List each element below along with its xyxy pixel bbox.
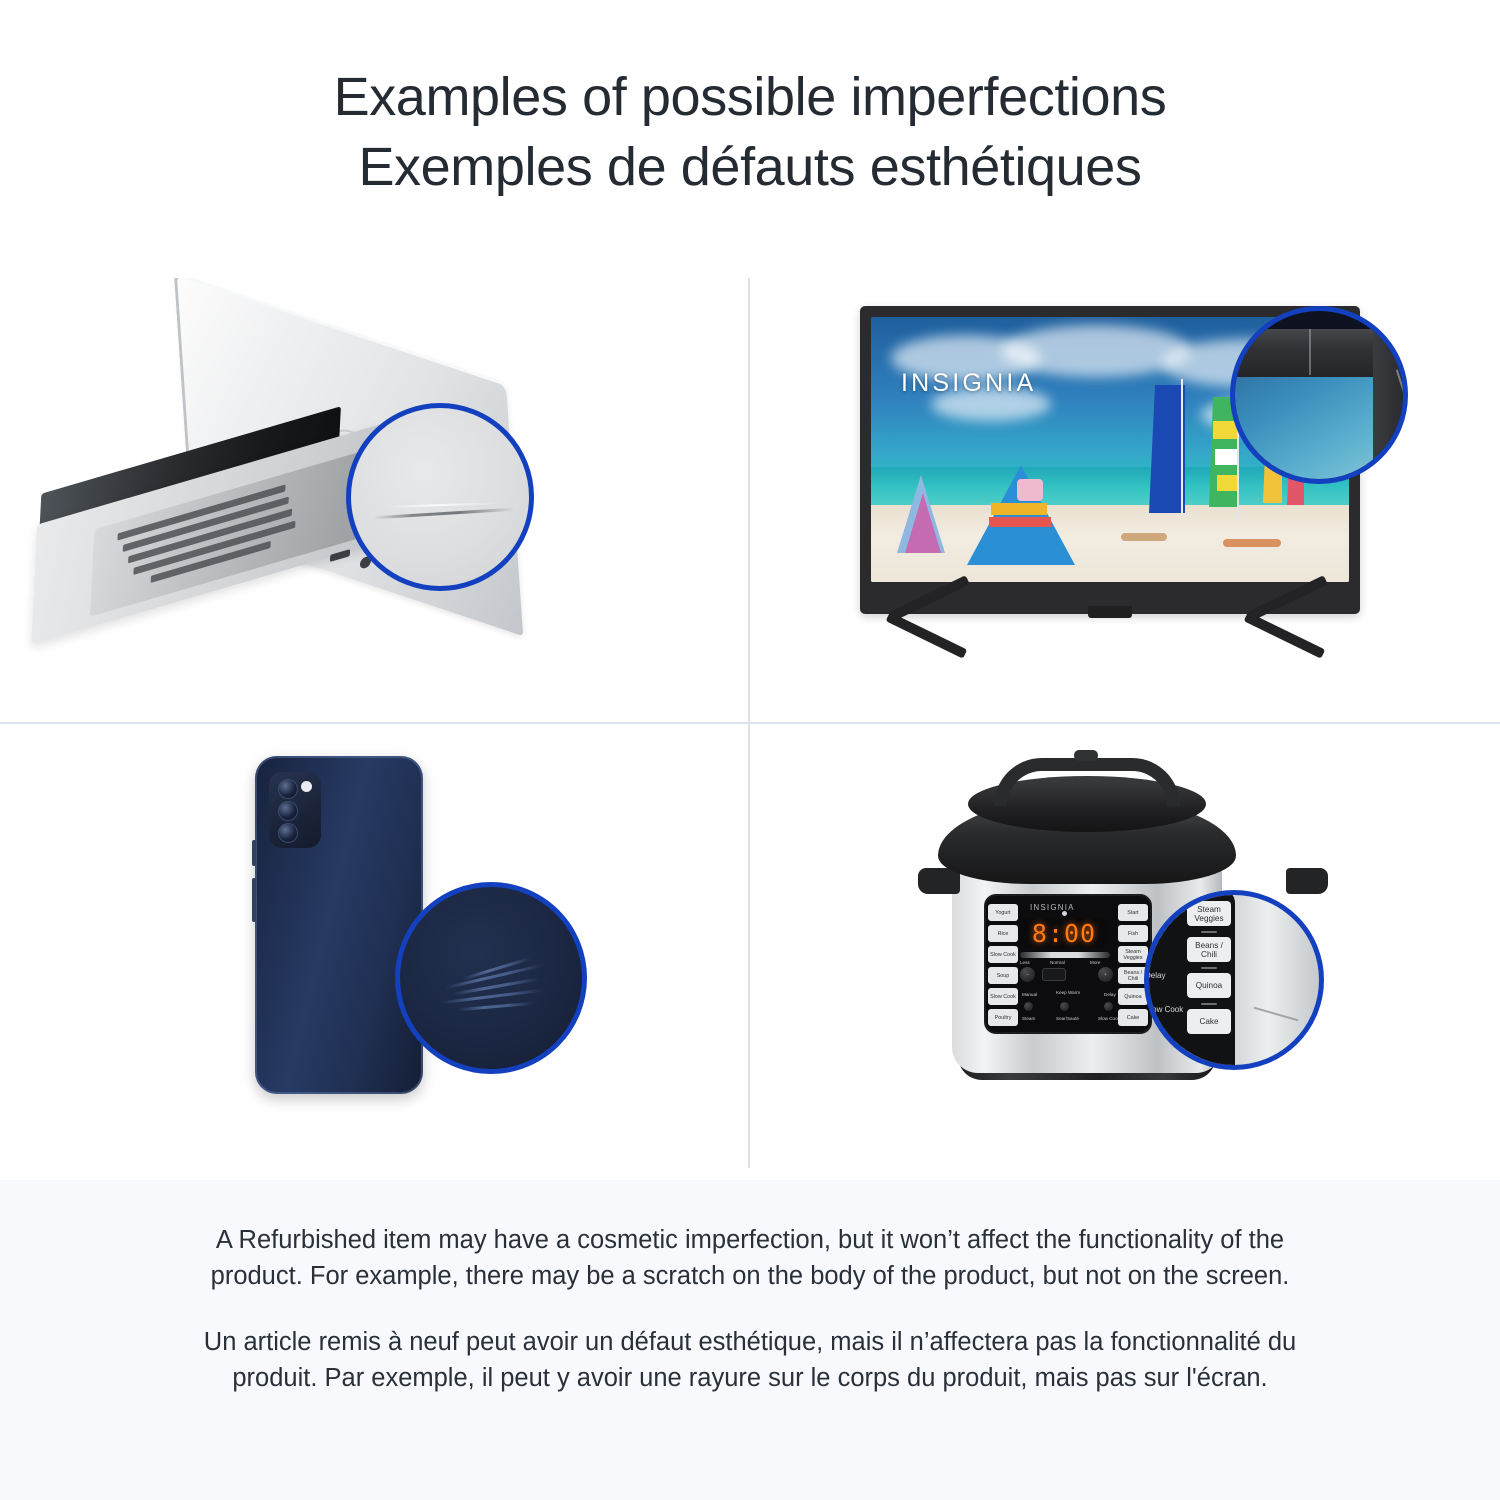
camera-flash-icon [301,781,312,792]
tv-ir-sensor [1088,606,1132,618]
page-title: Examples of possible imperfections Exemp… [0,62,1500,202]
magnified-button-cake[interactable]: Cake [1187,1009,1231,1034]
cooker-button-cake[interactable]: Cake [1118,1009,1148,1026]
magnified-label-delay: Delay [1145,971,1165,980]
magnifier-cooker-scratch: Delay Slow Cook Steam Veggies Beans / Ch… [1144,890,1324,1070]
cooker-center-label-sear: Sear/Sauté [1056,1016,1079,1021]
cooker-center-label-steam: Steam [1022,1016,1035,1021]
camera-lens-1 [278,779,298,799]
cooker-right-button-column: Start Fish Steam Veggies Beans / Chili Q… [1118,904,1148,1030]
cell-pressure-cooker: INSIGNIA 8:00 Less Normal More − + Manua… [750,724,1498,1168]
cooker-led-display: 8:00 [1022,918,1106,948]
cooker-center-label-slowcook: Slow Cook [1098,1016,1120,1021]
cooker-button-slowcook2[interactable]: Slow Cook [988,988,1018,1005]
pressure-cooker-illustration: INSIGNIA 8:00 Less Normal More − + Manua… [750,724,1498,1168]
smartphone-illustration [0,724,748,1168]
cell-laptop [0,278,748,722]
phone-power-button [252,878,256,922]
cell-television: INSIGNIA [750,278,1498,722]
title-line-french: Exemples de défauts esthétiques [0,132,1500,202]
cooker-brand-label: INSIGNIA [1030,903,1075,912]
cooker-preset-button[interactable] [1042,968,1066,981]
magnifier-tv-bezel-scuff [1230,306,1408,484]
cooker-body-scratch [1254,1007,1299,1022]
cell-smartphone [0,724,748,1168]
magnified-button-quinoa[interactable]: Quinoa [1187,973,1231,998]
laptop-illustration [0,278,748,722]
cooker-minus-button[interactable]: − [1020,967,1035,982]
cooker-button-delay[interactable] [1104,1002,1113,1011]
slider-label-normal: Normal [1050,960,1065,965]
magnifier-laptop-scratch [346,403,534,591]
cooker-button-soup[interactable]: Soup [988,967,1018,984]
cooker-display-value: 8:00 [1032,919,1096,948]
magnifier-phone-scratches [395,882,587,1074]
cooker-center-label-keepwarm: Keep Warm [1056,990,1080,995]
magnified-button-steamveggies[interactable]: Steam Veggies [1187,901,1231,926]
magnified-button-beanschili[interactable]: Beans / Chili [1187,937,1231,962]
cooker-side-handle-right [1286,868,1328,894]
television-illustration: INSIGNIA [750,278,1498,722]
tv-bezel-seam [1309,329,1311,375]
phone-camera-module [269,772,321,848]
cooker-button-steamveggies[interactable]: Steam Veggies [1118,946,1148,963]
disclaimer-french: Un article remis à neuf peut avoir un dé… [185,1294,1315,1396]
slider-label-more: More [1090,960,1100,965]
cooker-button-yogurt[interactable]: Yogurt [988,904,1018,921]
cooker-plus-button[interactable]: + [1098,967,1113,982]
cooker-left-button-column: Yogurt Rice Slow Cook Soup Slow Cook Pou… [988,904,1018,1030]
laptop-scratch [373,508,515,520]
disclaimer-english: A Refurbished item may have a cosmetic i… [185,1180,1315,1294]
camera-lens-3 [278,823,298,843]
product-example-grid: INSIGNIA [0,278,1500,1168]
cooker-control-panel: INSIGNIA 8:00 Less Normal More − + Manua… [984,894,1152,1034]
cooker-button-rice[interactable]: Rice [988,925,1018,942]
laptop-scratch-highlight [385,502,503,508]
cooker-lid-handle [994,758,1180,806]
camera-lens-2 [278,801,298,821]
cooker-button-fish[interactable]: Fish [1118,925,1148,942]
tv-bezel-side [1373,329,1408,484]
cooker-center-label-delay: Delay [1104,992,1116,997]
cooker-button-slowcook[interactable]: Slow Cook [988,946,1018,963]
magnified-label-slowcook: Slow Cook [1145,1005,1183,1014]
cooker-steam-valve [1074,750,1098,761]
title-line-english: Examples of possible imperfections [0,62,1500,132]
cooker-button-poultry[interactable]: Poultry [988,1009,1018,1026]
cooker-pressure-slider[interactable] [1020,952,1110,958]
tv-bezel-screen-area [1230,375,1377,484]
cooker-button-start[interactable]: Start [1118,904,1148,921]
cooker-center-label-manual: Manual [1022,992,1037,997]
refurbished-imperfections-infographic: Examples of possible imperfections Exemp… [0,0,1500,1500]
phone-volume-button [252,840,256,866]
tv-brand-logo: INSIGNIA [901,369,1036,398]
cooker-status-led [1062,911,1067,916]
cooker-button-keepwarm[interactable] [1060,1002,1069,1011]
slider-label-less: Less [1020,960,1030,965]
cooker-button-manual[interactable] [1024,1002,1033,1011]
cooker-button-quinoa[interactable]: Quinoa [1118,988,1148,1005]
disclaimer-panel: A Refurbished item may have a cosmetic i… [0,1180,1500,1500]
